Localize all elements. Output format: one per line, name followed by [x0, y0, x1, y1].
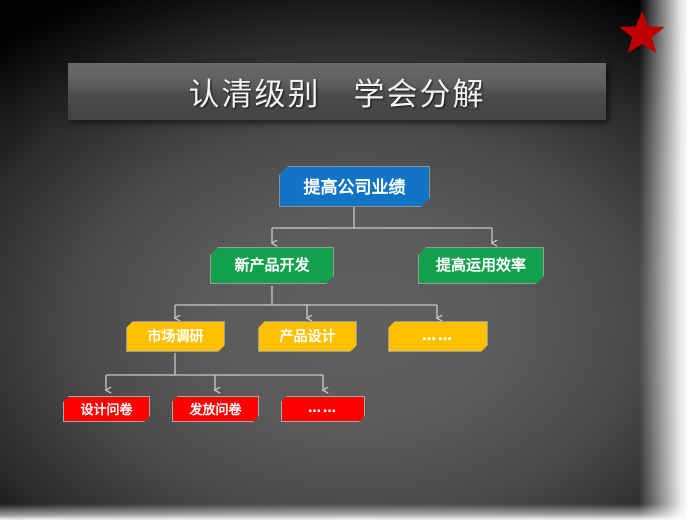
footer-watermark-area: myshareful.blog.163.com m y shareful 微信号…	[0, 474, 687, 520]
node-level3-market-research[interactable]: 市场调研	[126, 321, 225, 352]
node-level3-more[interactable]: ……	[388, 321, 488, 352]
node-level4-more[interactable]: ……	[281, 396, 365, 422]
node-label: ……	[422, 328, 454, 344]
node-label: 提高公司业绩	[304, 173, 406, 198]
node-level2-improve-efficiency[interactable]: 提高运用效率	[418, 247, 544, 284]
node-label: ……	[308, 401, 338, 416]
node-label: 产品设计	[280, 326, 336, 346]
node-level4-design-questionnaire[interactable]: 设计问卷	[63, 396, 150, 422]
node-label: 新产品开发	[234, 254, 309, 275]
node-label: 设计问卷	[80, 399, 132, 418]
node-label: 市场调研	[148, 326, 204, 346]
node-label: 发放问卷	[189, 399, 241, 418]
slide-title-bar: 认清级别 学会分解	[68, 63, 606, 120]
node-label: 提高运用效率	[436, 254, 526, 275]
slide-canvas: 认清级别 学会分解	[0, 0, 687, 520]
node-level3-product-design[interactable]: 产品设计	[258, 321, 357, 352]
red-star-icon	[617, 8, 667, 56]
node-level2-new-product-development[interactable]: 新产品开发	[210, 247, 334, 284]
page-title: 认清级别 学会分解	[189, 69, 486, 114]
node-level1-company-performance[interactable]: 提高公司业绩	[279, 166, 430, 207]
node-level4-distribute-questionnaire[interactable]: 发放问卷	[172, 396, 259, 422]
